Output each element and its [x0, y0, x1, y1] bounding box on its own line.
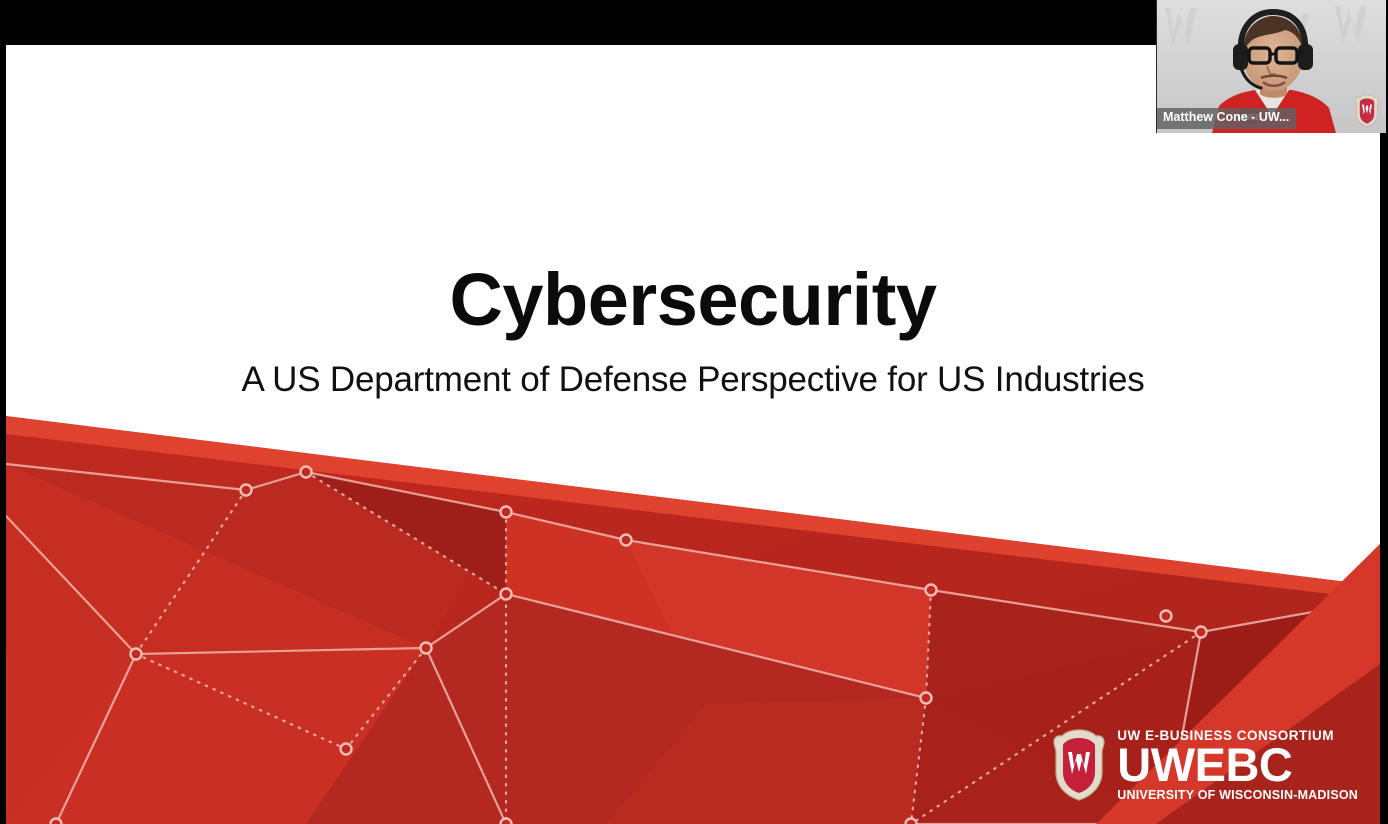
- participant-name-label: Matthew Cone - UW...: [1157, 108, 1296, 129]
- slide-canvas: Cybersecurity A US Department of Defense…: [6, 45, 1380, 824]
- wisconsin-w-crest-icon: [1050, 728, 1108, 802]
- wisconsin-w-crest-watermark-icon: [1354, 94, 1380, 127]
- uwebc-name: UWEBC: [1117, 743, 1292, 786]
- uwebc-logo: UW E-BUSINESS CONSORTIUM UWEBC UNIVERSIT…: [1050, 728, 1358, 802]
- slide-title: Cybersecurity: [6, 263, 1380, 337]
- uwebc-wordmark: UW E-BUSINESS CONSORTIUM UWEBC UNIVERSIT…: [1117, 729, 1358, 801]
- presentation-screen: Cybersecurity A US Department of Defense…: [0, 0, 1388, 824]
- uwebc-tagline-bottom: UNIVERSITY OF WISCONSIN-MADISON: [1117, 789, 1358, 802]
- slide-subtitle: A US Department of Defense Perspective f…: [6, 362, 1380, 397]
- webcam-pip-tile[interactable]: UWEB Matthew Cone - UW...: [1156, 0, 1386, 133]
